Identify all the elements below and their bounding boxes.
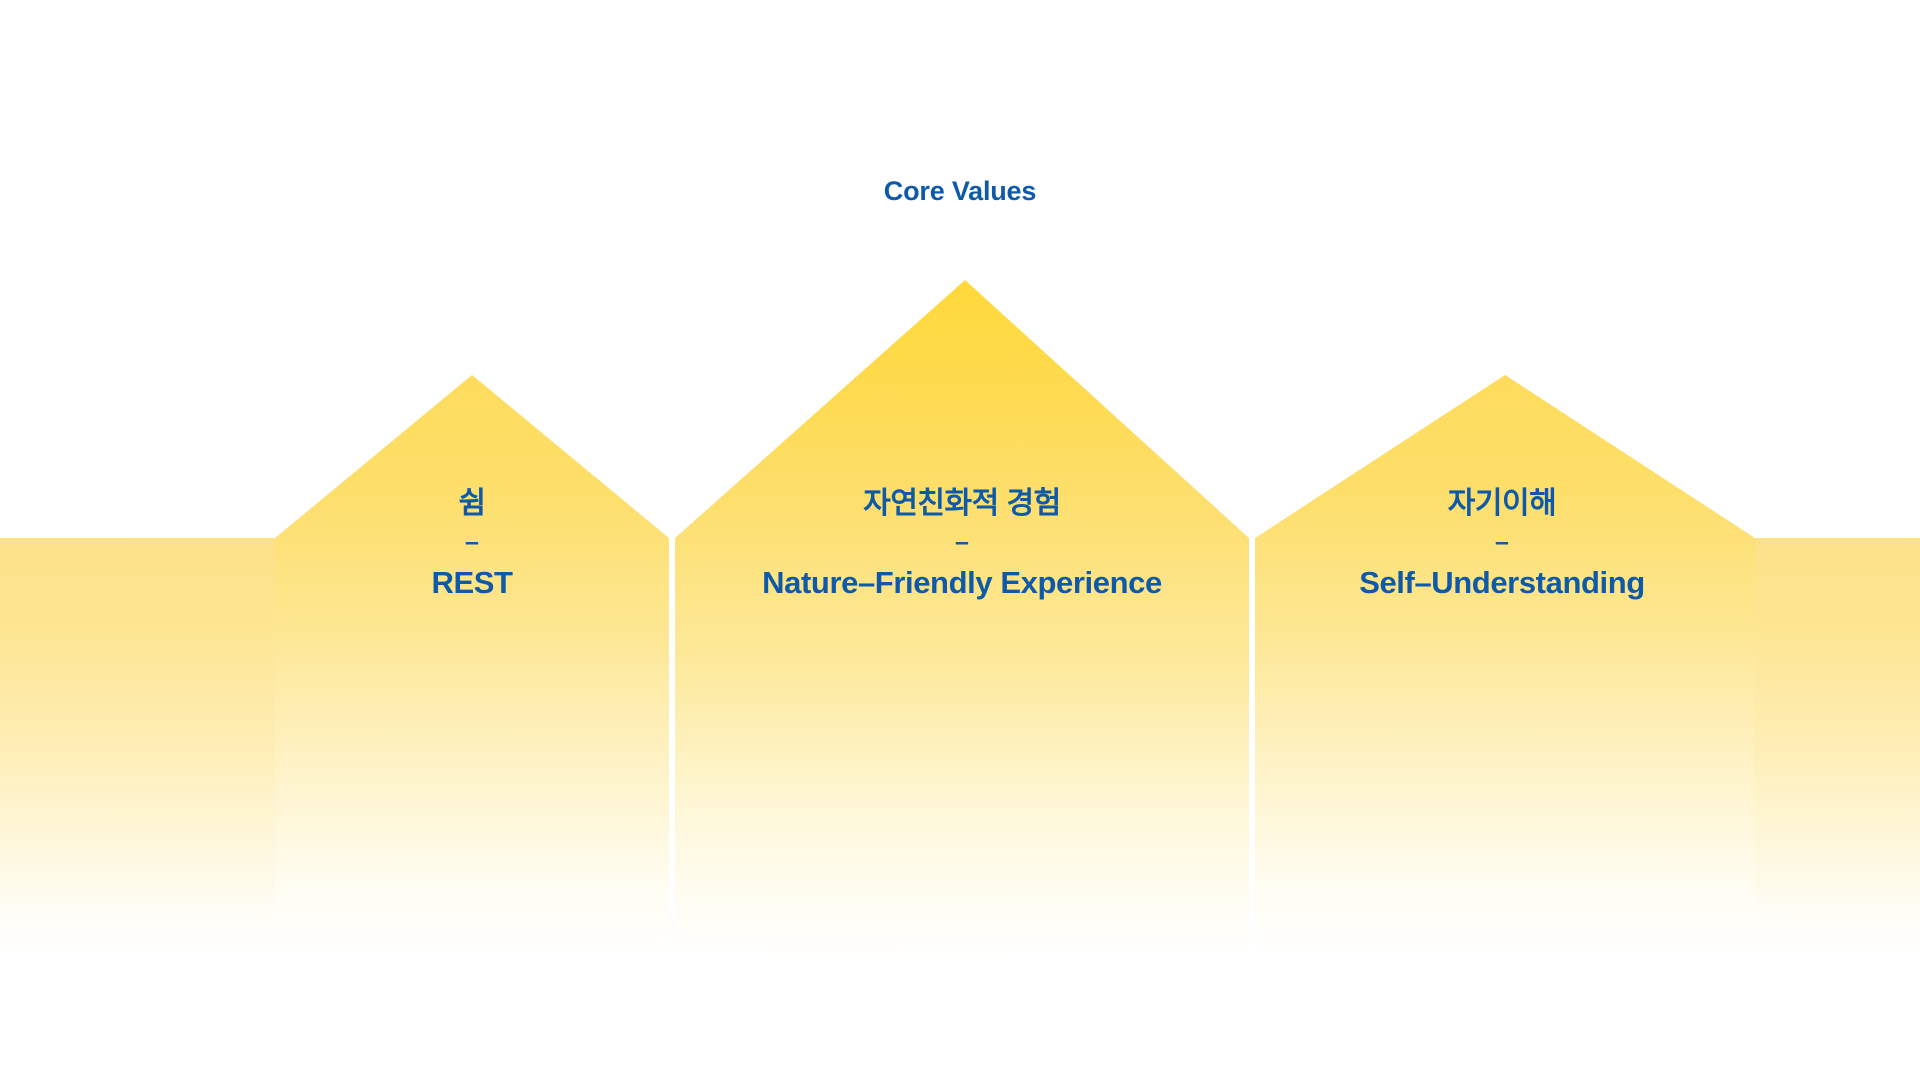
pillar-shape-nature-friendly-experience [675,280,1249,960]
pillar-korean-label-self-understanding: 자기이해 [1202,486,1802,521]
pillar-label-self-understanding: 자기이해 – Self–Understanding [1202,486,1802,601]
pillar-english-label-nature-friendly-experience: Nature–Friendly Experience [662,564,1262,601]
left-skirt-shape [0,538,275,960]
pillar-separator-nature-friendly-experience: – [662,521,1262,564]
pillar-shape-self-understanding [1255,375,1755,960]
pillar-english-label-self-understanding: Self–Understanding [1202,564,1802,601]
core-values-slide: Core Values [0,0,1920,1080]
pillar-korean-label-nature-friendly-experience: 자연친화적 경험 [662,486,1262,521]
pillar-separator-self-understanding: – [1202,521,1802,564]
right-skirt-shape [1755,538,1920,960]
pillar-shape-rest [275,375,669,960]
pillar-label-nature-friendly-experience: 자연친화적 경험 – Nature–Friendly Experience [662,486,1262,601]
